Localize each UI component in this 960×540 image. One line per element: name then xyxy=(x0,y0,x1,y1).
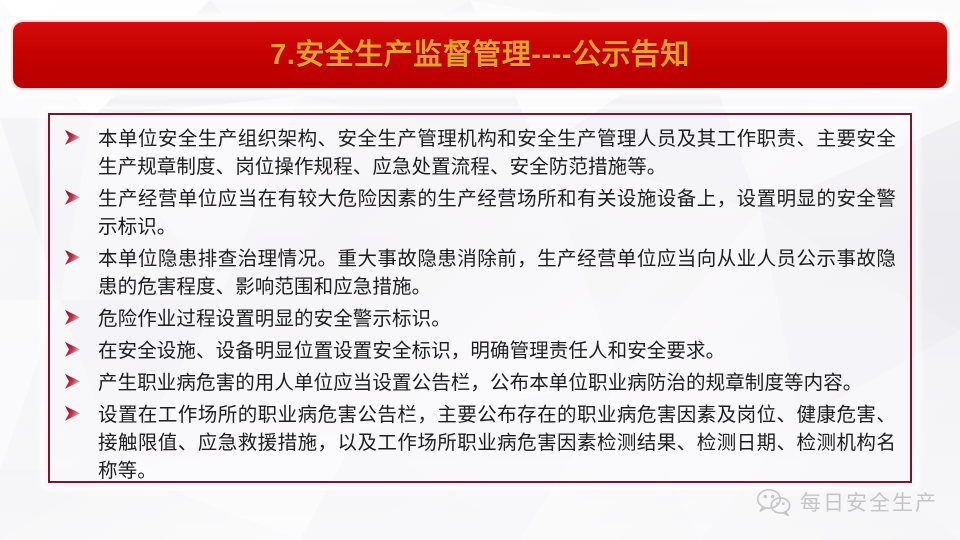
watermark-label: 每日安全生产 xyxy=(800,493,938,514)
list-item: 产生职业病危害的用人单位应当设置公告栏，公布本单位职业病防治的规章制度等内容。 xyxy=(58,369,896,397)
list-item: 危险作业过程设置明显的安全警示标识。 xyxy=(58,305,896,333)
arrow-bullet-icon xyxy=(58,337,98,357)
bullet-text: 本单位安全生产组织架构、安全生产管理机构和安全生产管理人员及其工作职责、主要安全… xyxy=(98,125,896,181)
list-item: 在安全设施、设备明显位置设置安全标识，明确管理责任人和安全要求。 xyxy=(58,337,896,365)
bullet-text: 设置在工作场所的职业病危害公告栏，主要公布存在的职业病危害因素及岗位、健康危害、… xyxy=(98,401,896,485)
arrow-bullet-icon xyxy=(58,245,98,265)
wechat-icon xyxy=(757,488,791,518)
content-box: 本单位安全生产组织架构、安全生产管理机构和安全生产管理人员及其工作职责、主要安全… xyxy=(48,113,912,483)
list-item: 本单位安全生产组织架构、安全生产管理机构和安全生产管理人员及其工作职责、主要安全… xyxy=(58,125,896,181)
title-banner: 7.安全生产监督管理----公示告知 xyxy=(13,22,947,88)
bullet-text: 本单位隐患排查治理情况。重大事故隐患消除前，生产经营单位应当向从业人员公示事故隐… xyxy=(98,245,896,301)
slide-canvas: 7.安全生产监督管理----公示告知 xyxy=(0,0,960,540)
bullet-text: 在安全设施、设备明显位置设置安全标识，明确管理责任人和安全要求。 xyxy=(98,337,896,365)
list-item: 设置在工作场所的职业病危害公告栏，主要公布存在的职业病危害因素及岗位、健康危害、… xyxy=(58,401,896,485)
arrow-bullet-icon xyxy=(58,125,98,145)
bullet-text: 生产经营单位应当在有较大危险因素的生产经营场所和有关设施设备上，设置明显的安全警… xyxy=(98,185,896,241)
bullet-list: 本单位安全生产组织架构、安全生产管理机构和安全生产管理人员及其工作职责、主要安全… xyxy=(58,125,896,485)
arrow-bullet-icon xyxy=(58,305,98,325)
arrow-bullet-icon xyxy=(58,401,98,421)
list-item: 本单位隐患排查治理情况。重大事故隐患消除前，生产经营单位应当向从业人员公示事故隐… xyxy=(58,245,896,301)
list-item: 生产经营单位应当在有较大危险因素的生产经营场所和有关设施设备上，设置明显的安全警… xyxy=(58,185,896,241)
watermark: 每日安全生产 xyxy=(757,488,938,518)
arrow-bullet-icon xyxy=(58,369,98,389)
bullet-text: 产生职业病危害的用人单位应当设置公告栏，公布本单位职业病防治的规章制度等内容。 xyxy=(98,369,896,397)
page-title: 7.安全生产监督管理----公示告知 xyxy=(270,41,690,70)
bullet-text: 危险作业过程设置明显的安全警示标识。 xyxy=(98,305,896,333)
arrow-bullet-icon xyxy=(58,185,98,205)
